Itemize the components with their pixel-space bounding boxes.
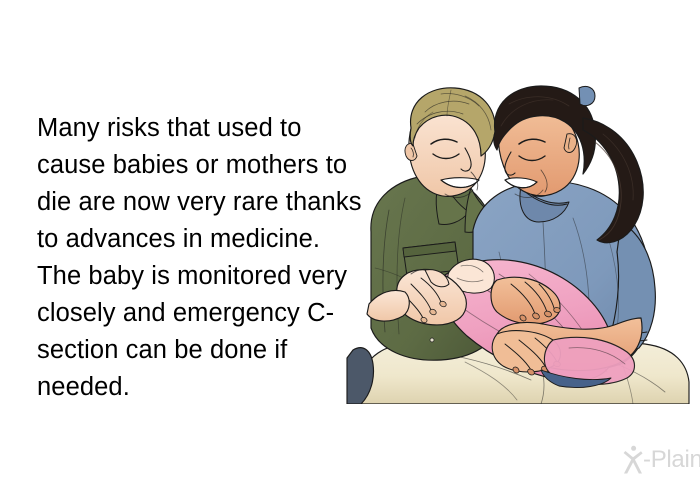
illustration-svg <box>345 82 690 404</box>
brand-logo: -Plain <box>622 444 694 476</box>
x-plain-figure-mark-icon <box>622 445 644 475</box>
hair-tie <box>579 86 595 105</box>
brand-wordmark: -Plain <box>643 448 700 472</box>
body-text: Many risks that used to cause babies or … <box>37 110 367 406</box>
slide-canvas: Many risks that used to cause babies or … <box>0 0 700 480</box>
illustration-couple-with-newborn <box>345 82 690 404</box>
